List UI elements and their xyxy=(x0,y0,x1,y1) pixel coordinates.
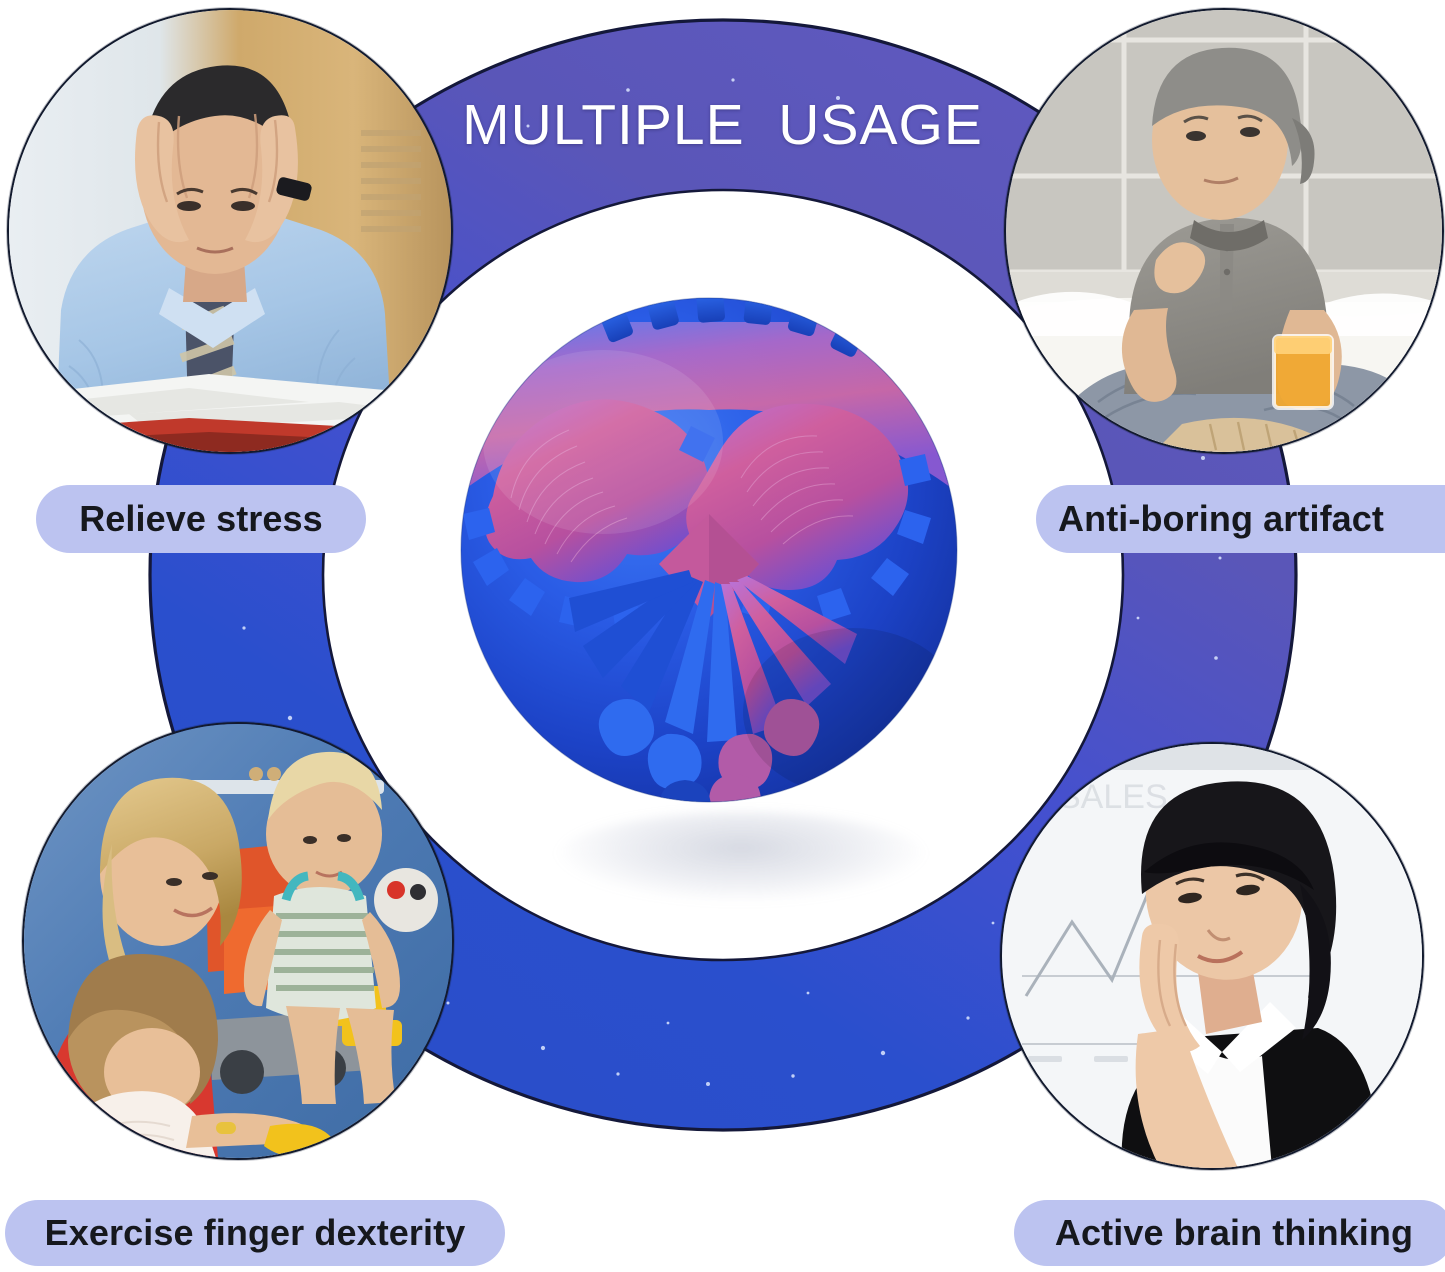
label-relieve-stress[interactable]: Relieve stress xyxy=(36,485,366,553)
label-exercise-finger-dexterity[interactable]: Exercise finger dexterity xyxy=(5,1200,505,1266)
label-text: Relieve stress xyxy=(79,498,323,540)
label-text: Active brain thinking xyxy=(1055,1212,1413,1254)
product-shadow xyxy=(556,812,926,902)
photo-bored-businesswoman: SALES xyxy=(1000,742,1424,1170)
label-text: Exercise finger dexterity xyxy=(45,1212,466,1254)
infographic-canvas: MULTIPLE USAGE xyxy=(0,0,1445,1272)
photo-mother-with-toddlers xyxy=(22,722,454,1160)
label-anti-boring-artifact[interactable]: Anti-boring artifact xyxy=(1036,485,1445,553)
photo-bored-man-on-bed xyxy=(1004,8,1444,454)
label-active-brain-thinking[interactable]: Active brain thinking xyxy=(1014,1200,1445,1266)
svg-text:SALES: SALES xyxy=(1058,778,1168,816)
product-image-gear-fidget-ball xyxy=(453,282,965,812)
label-text: Anti-boring artifact xyxy=(1058,498,1384,540)
photo-stressed-office-worker xyxy=(7,8,453,454)
